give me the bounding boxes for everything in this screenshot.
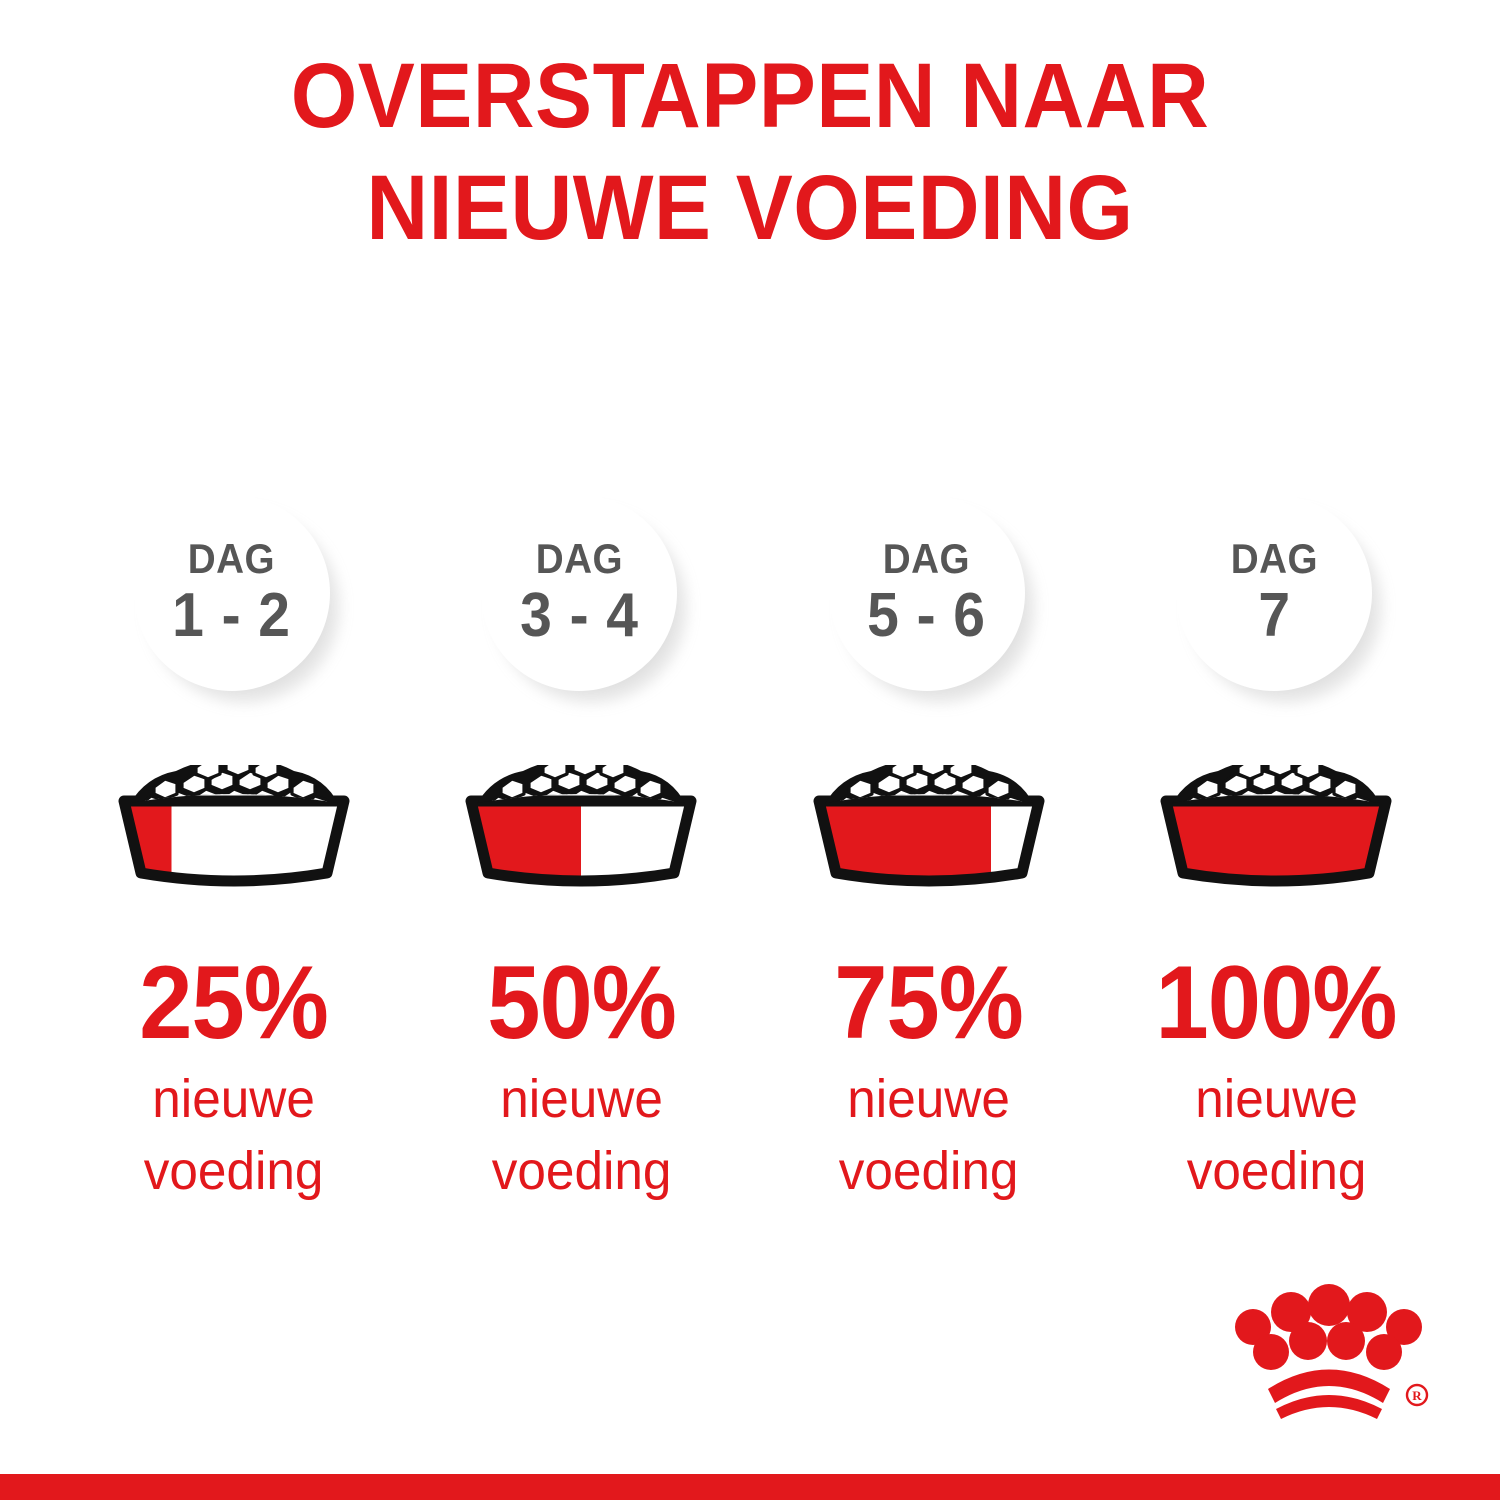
day-badge-label: DAG bbox=[536, 537, 623, 581]
percent-value-1: 25% bbox=[139, 949, 328, 1057]
page-title-line-2: NIEUWE VOEDING bbox=[53, 152, 1448, 264]
percent-sub-line-3b: voeding bbox=[839, 1135, 1019, 1207]
day-badge-label: DAG bbox=[188, 537, 275, 581]
day-badge-days: 3 - 4 bbox=[520, 583, 639, 649]
percent-sub-line-1b: voeding bbox=[144, 1135, 324, 1207]
day-badge-circle: DAG 3 - 4 bbox=[481, 495, 677, 691]
day-badge-days: 7 bbox=[1258, 583, 1291, 649]
schedule-column-1: DAG 1 - 2 bbox=[60, 495, 408, 1207]
dog-food-bowl-icon-4 bbox=[1126, 747, 1426, 897]
percent-sub-line-4b: voeding bbox=[1186, 1135, 1366, 1207]
page-title: OVERSTAPPEN NAAR NIEUWE VOEDING bbox=[0, 40, 1500, 264]
svg-text:R: R bbox=[1412, 1388, 1422, 1403]
percent-sub-line-2a: nieuwe bbox=[500, 1063, 663, 1135]
percent-sub-line-2b: voeding bbox=[491, 1135, 671, 1207]
day-badge-1: DAG 1 - 2 bbox=[134, 495, 334, 695]
percent-sub-line-1a: nieuwe bbox=[152, 1063, 315, 1135]
day-badge-days: 1 - 2 bbox=[172, 583, 291, 649]
schedule-column-3: DAG 5 - 6 bbox=[755, 495, 1103, 1207]
poster-root: OVERSTAPPEN NAAR NIEUWE VOEDING DAG 1 - … bbox=[0, 0, 1500, 1500]
day-badge-label: DAG bbox=[1231, 537, 1318, 581]
schedule-column-4: DAG 7 bbox=[1103, 495, 1451, 1207]
dog-food-bowl-icon-3 bbox=[779, 747, 1079, 897]
transition-schedule: DAG 1 - 2 bbox=[60, 495, 1450, 1207]
day-badge-2: DAG 3 - 4 bbox=[481, 495, 681, 695]
schedule-column-2: DAG 3 - 4 bbox=[408, 495, 756, 1207]
day-badge-circle: DAG 1 - 2 bbox=[134, 495, 330, 691]
dog-food-bowl-icon-2 bbox=[431, 747, 731, 897]
dog-food-bowl-icon-1 bbox=[84, 747, 384, 897]
percent-value-4: 100% bbox=[1156, 949, 1397, 1057]
day-badge-4: DAG 7 bbox=[1176, 495, 1376, 695]
registered-mark-icon: R bbox=[1407, 1385, 1427, 1405]
day-badge-circle: DAG 7 bbox=[1176, 495, 1372, 691]
percent-sub-line-3a: nieuwe bbox=[847, 1063, 1010, 1135]
day-badge-circle: DAG 5 - 6 bbox=[829, 495, 1025, 691]
percent-value-2: 50% bbox=[487, 949, 676, 1057]
day-badge-3: DAG 5 - 6 bbox=[829, 495, 1029, 695]
bottom-brand-stripe bbox=[0, 1474, 1500, 1500]
page-title-line-1: OVERSTAPPEN NAAR bbox=[53, 40, 1448, 152]
percent-value-3: 75% bbox=[834, 949, 1023, 1057]
day-badge-days: 5 - 6 bbox=[867, 583, 986, 649]
day-badge-label: DAG bbox=[883, 537, 970, 581]
percent-sub-line-4a: nieuwe bbox=[1195, 1063, 1358, 1135]
royal-canin-crown-logo: R bbox=[1212, 1278, 1442, 1428]
